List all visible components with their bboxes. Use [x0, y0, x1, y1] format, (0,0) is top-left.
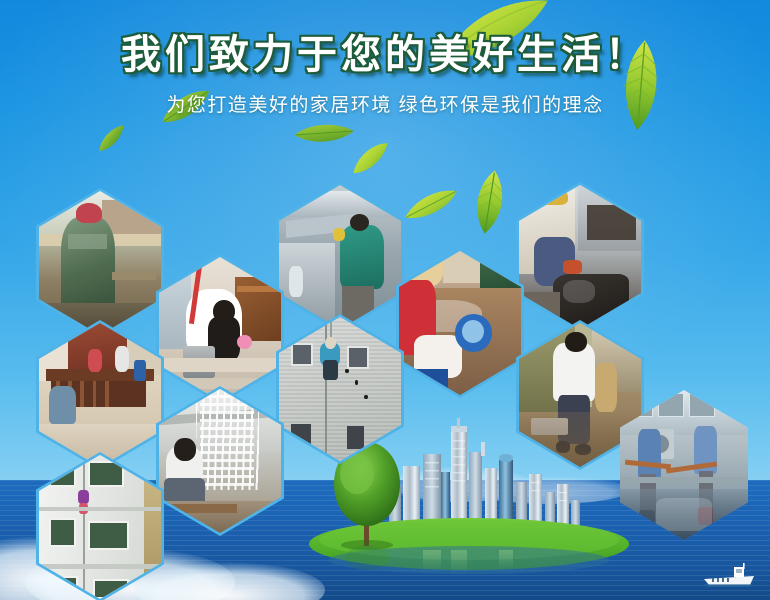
tile-kitchen-hood-degrease[interactable]: [516, 182, 644, 332]
tile-wall-plastering[interactable]: [36, 188, 164, 338]
page-title: 我们致力于您的美好生活！: [0, 34, 770, 76]
tile-chandelier-cleaning[interactable]: [156, 386, 284, 536]
banner-copy: 我们致力于您的美好生活！ 为您打造美好的家居环境 绿色环保是我们的理念: [0, 34, 770, 117]
tile-handrail-install[interactable]: [36, 320, 164, 470]
tile-stair-mopping[interactable]: [156, 254, 284, 404]
tile-facade-rope-access[interactable]: [276, 314, 404, 464]
tile-carpet-shampoo[interactable]: [396, 248, 524, 398]
page-subtitle: 为您打造美好的家居环境 绿色环保是我们的理念: [0, 90, 770, 117]
tile-duct-cleaning[interactable]: [276, 182, 404, 332]
banner-stage: 我们致力于您的美好生活！ 为您打造美好的家居环境 绿色环保是我们的理念: [0, 0, 770, 600]
tile-exterior-wall-rappel[interactable]: [36, 452, 164, 600]
